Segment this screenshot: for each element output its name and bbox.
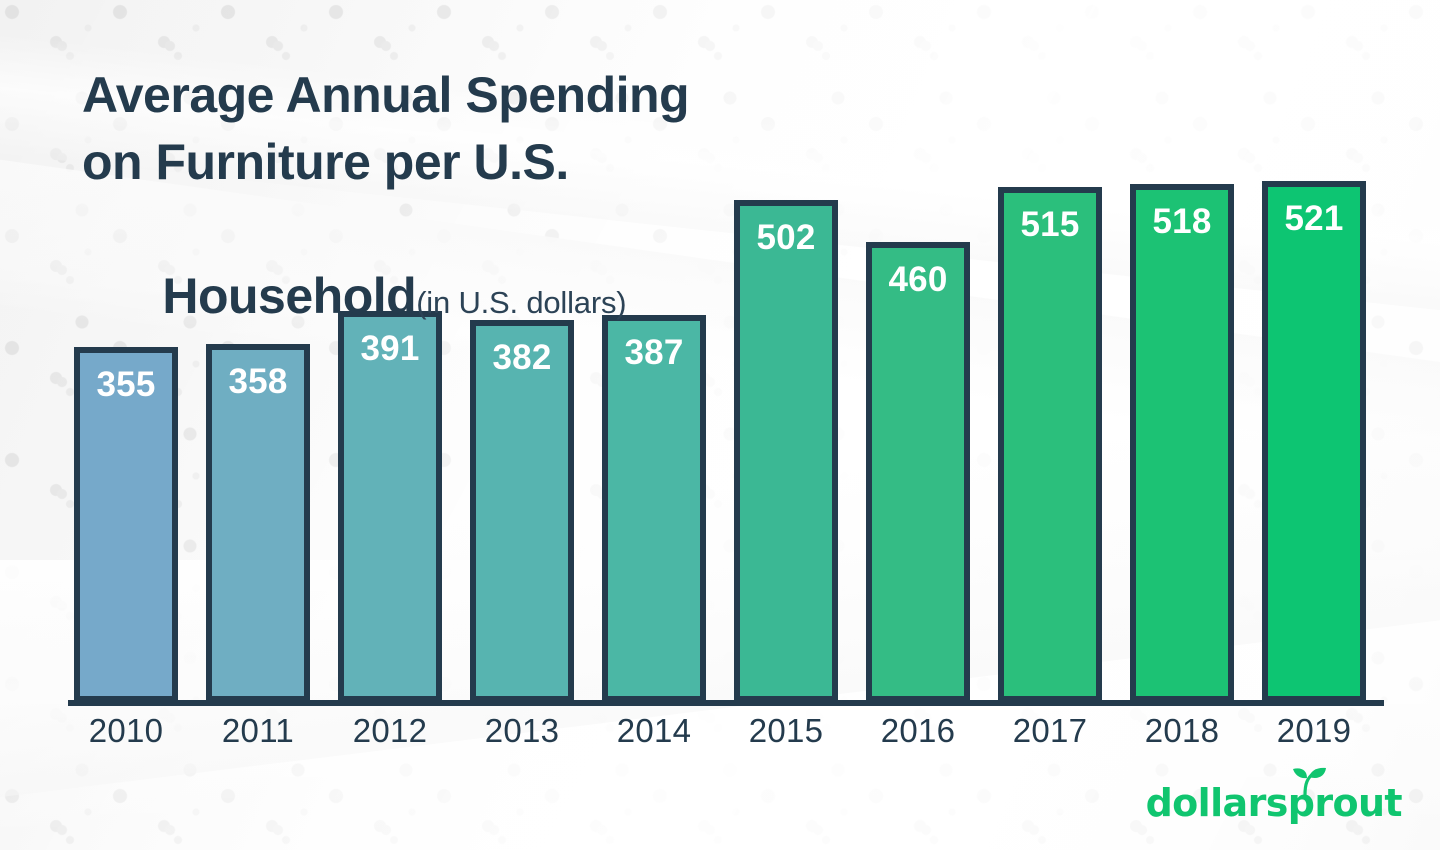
x-tick-2010: 2010	[74, 712, 178, 750]
bar-2017: 515	[998, 187, 1102, 702]
sprout-leaf-icon	[1284, 766, 1328, 796]
bar-2011: 358	[206, 344, 310, 702]
page-title-line-3: Household(in U.S. dollars)	[82, 196, 842, 397]
chart-subtitle: (in U.S. dollars)	[416, 285, 626, 320]
brand-logo[interactable]: dollarsprout	[1146, 784, 1402, 822]
x-tick-2011: 2011	[206, 712, 310, 750]
bar-2016: 460	[866, 242, 970, 702]
x-tick-2019: 2019	[1262, 712, 1366, 750]
bar-value-label: 460	[872, 260, 964, 300]
x-tick-2012: 2012	[338, 712, 442, 750]
infographic-canvas: Average Annual Spending on Furniture per…	[0, 0, 1440, 850]
x-tick-2016: 2016	[866, 712, 970, 750]
page-title-line-2: on Furniture per U.S.	[82, 129, 842, 196]
bar-value-label: 518	[1136, 202, 1228, 242]
x-tick-2017: 2017	[998, 712, 1102, 750]
page-title-line-3-text: Household	[162, 268, 416, 324]
x-tick-2014: 2014	[602, 712, 706, 750]
x-tick-2015: 2015	[734, 712, 838, 750]
bar-value-label: 521	[1268, 199, 1360, 239]
bar-2019: 521	[1262, 181, 1366, 702]
chart-title-block: Average Annual Spending on Furniture per…	[82, 62, 842, 397]
bar-2018: 518	[1130, 184, 1234, 702]
bar-2010: 355	[74, 347, 178, 702]
brand-name: dollarsprout	[1146, 784, 1402, 822]
x-tick-2018: 2018	[1130, 712, 1234, 750]
page-title-line-1: Average Annual Spending	[82, 62, 842, 129]
x-tick-2013: 2013	[470, 712, 574, 750]
bar-value-label: 515	[1004, 205, 1096, 245]
